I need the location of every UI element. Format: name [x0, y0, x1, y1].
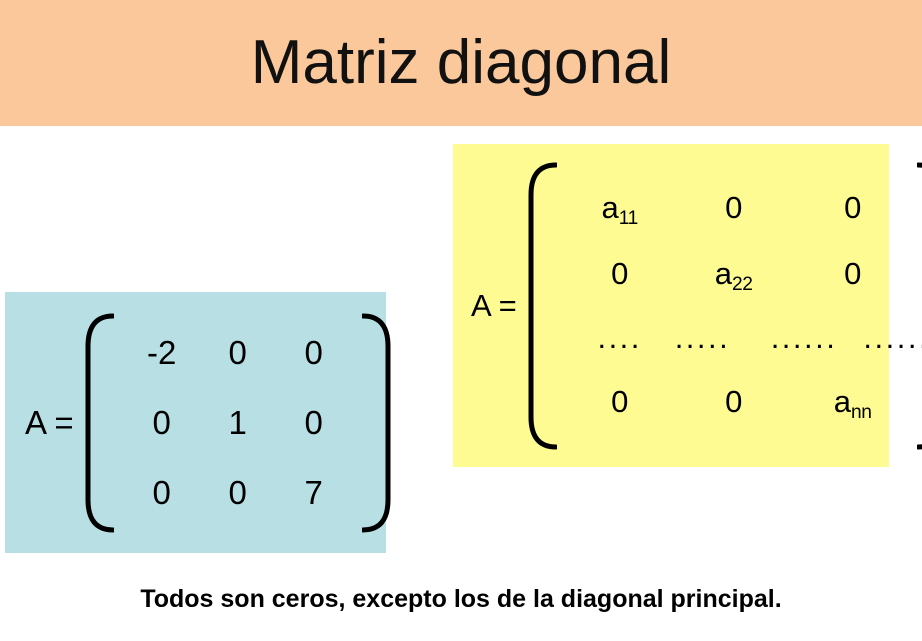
matrix-cell: 0: [844, 192, 861, 223]
matrix-cell-base: a: [834, 384, 851, 419]
left-bracket-icon: [523, 161, 557, 451]
matrix-cell: 0: [611, 386, 628, 417]
matrix-cell: 0: [725, 386, 742, 417]
title-band: Matriz diagonal: [0, 0, 922, 126]
general-matrix-grid: a11 0 0 0 a22 0 .... ..... ............ …: [557, 161, 917, 451]
matrix-cell: 0: [152, 406, 170, 439]
matrix-ellipsis-cell: ....: [597, 322, 641, 353]
example-matrix-grid: -2 0 0 0 1 0 0 0 7: [114, 312, 362, 534]
right-bracket-icon: [917, 161, 922, 451]
matrix-cell-subscript: nn: [851, 402, 872, 423]
general-matrix: a11 0 0 0 a22 0 .... ..... ............ …: [523, 161, 922, 451]
right-bracket-icon: [362, 312, 396, 534]
matrix-cell: 7: [304, 476, 322, 509]
matrix-cell: a22: [715, 258, 753, 289]
ellipsis: .....: [675, 332, 731, 344]
example-matrix-panel: A = -2 0 0 0 1 0 0 0 7: [5, 292, 386, 553]
ellipsis: ......: [863, 332, 922, 344]
general-matrix-panel: A = a11 0 0 0 a22 0 .... ..... .........…: [453, 144, 889, 467]
matrix-cell: 0: [228, 476, 246, 509]
matrix-cell-base: 0: [611, 256, 628, 291]
matrix-cell-subscript: 22: [732, 274, 753, 295]
matrix-cell: 0: [304, 336, 322, 369]
matrix-cell: 1: [228, 406, 246, 439]
matrix-cell: 0: [844, 258, 861, 289]
matrix-cell: 0: [611, 258, 628, 289]
matrix-cell: 0: [304, 406, 322, 439]
matrix-ellipsis-cell: ............: [771, 322, 922, 353]
matrix-cell: 0: [152, 476, 170, 509]
matrix-ellipsis-cell: .....: [675, 322, 731, 353]
matrix-cell: a11: [601, 192, 637, 223]
caption-text: Todos son ceros, excepto los de la diago…: [0, 585, 922, 614]
left-bracket-icon: [80, 312, 114, 534]
matrix-cell: 0: [228, 336, 246, 369]
example-matrix: -2 0 0 0 1 0 0 0 7: [80, 312, 396, 534]
general-matrix-label: A =: [471, 290, 517, 321]
page-title: Matriz diagonal: [251, 32, 671, 94]
matrix-cell-base: 0: [725, 190, 742, 225]
matrix-cell-base: 0: [611, 384, 628, 419]
matrix-cell-base: 0: [844, 190, 861, 225]
matrix-cell-base: a: [601, 190, 618, 225]
matrix-cell-base: 0: [725, 384, 742, 419]
matrix-cell-base: a: [715, 256, 732, 291]
matrix-cell: -2: [147, 336, 176, 369]
matrix-cell: ann: [834, 386, 872, 417]
example-matrix-label: A =: [25, 406, 74, 439]
ellipsis: ......: [771, 332, 838, 344]
matrix-cell-base: 0: [844, 256, 861, 291]
ellipsis: ....: [597, 332, 641, 344]
matrix-cell-subscript: 11: [619, 208, 638, 229]
matrix-cell: 0: [725, 192, 742, 223]
